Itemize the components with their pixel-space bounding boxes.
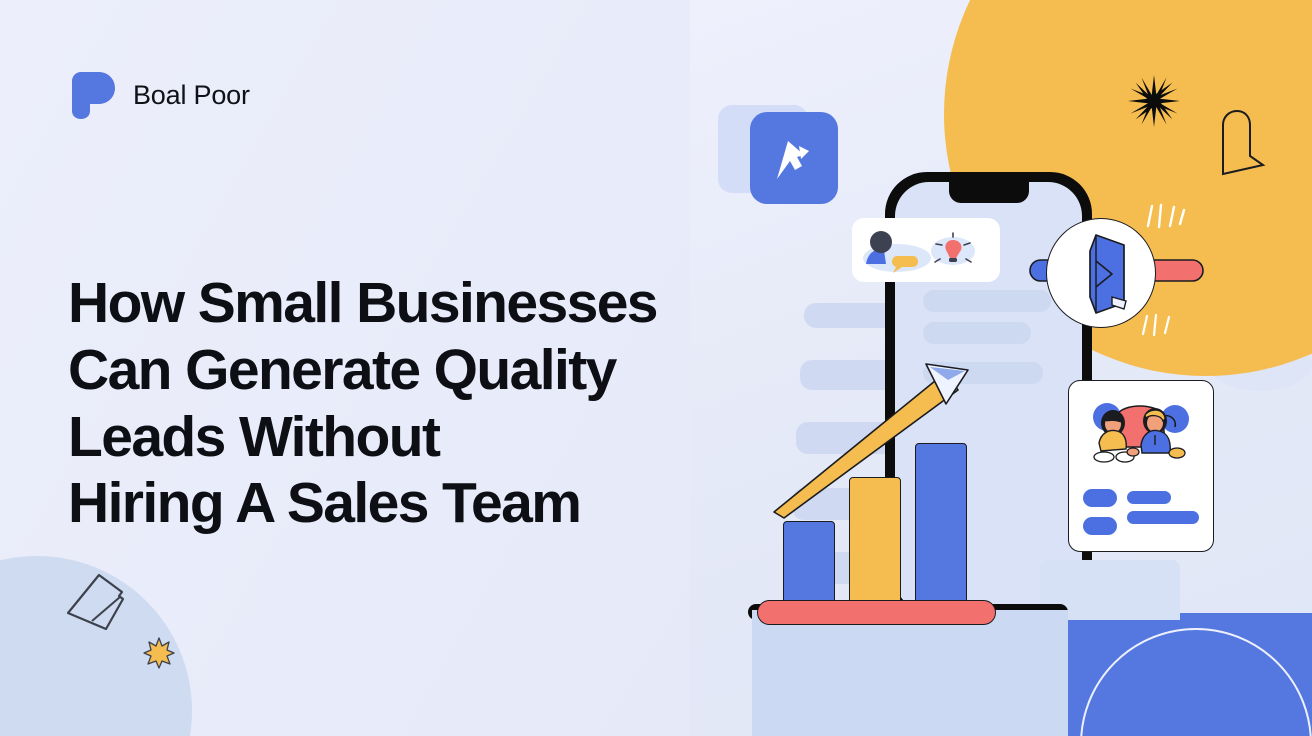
card-line-1 [1127, 491, 1171, 504]
arch-outline-icon [1216, 108, 1266, 176]
yellow-star-icon [143, 637, 175, 669]
pale-platform [752, 610, 1068, 736]
people-card[interactable] [1068, 380, 1214, 552]
boal-poor-p-mark-icon [68, 70, 116, 120]
card-bullet-1 [1083, 489, 1117, 507]
headline-line-4: Hiring A Sales Team [68, 470, 708, 537]
phone-notch [949, 182, 1029, 203]
cursor-tile[interactable] [750, 112, 838, 204]
lightbulb-idea-icon [931, 233, 975, 265]
polygon-outline-icon [62, 572, 136, 634]
card-line-2 [1127, 511, 1199, 524]
cursor-arrow-icon [771, 133, 819, 183]
black-starburst-icon [1128, 75, 1180, 127]
screen-placeholder-row-2 [923, 322, 1031, 344]
megaphone-icon [1072, 231, 1144, 317]
chart-bar-1 [783, 521, 835, 605]
headline-line-1: How Small Businesses [68, 270, 708, 337]
banner-canvas: Boal Poor How Small Businesses Can Gener… [0, 0, 1312, 736]
sparkle-lines-secondary-icon [1138, 310, 1178, 340]
card-bullet-2 [1083, 517, 1117, 535]
notification-pill-card[interactable] [852, 218, 1000, 282]
brand-logo[interactable]: Boal Poor [68, 70, 250, 120]
chart-base-bar [757, 600, 996, 625]
page-title: How Small Businesses Can Generate Qualit… [68, 270, 708, 537]
headline-line-3: Leads Without [68, 404, 708, 471]
sparkle-lines-icon [1142, 200, 1188, 234]
notification-card-content [852, 218, 1000, 282]
two-people-on-couch-illustration [1083, 395, 1201, 473]
brand-name: Boal Poor [133, 82, 250, 109]
growth-arrow-icon [770, 360, 990, 520]
person-chat-bubble-icon [863, 231, 931, 273]
headline-line-2: Can Generate Quality [68, 337, 708, 404]
screen-placeholder-row-1 [923, 290, 1051, 312]
